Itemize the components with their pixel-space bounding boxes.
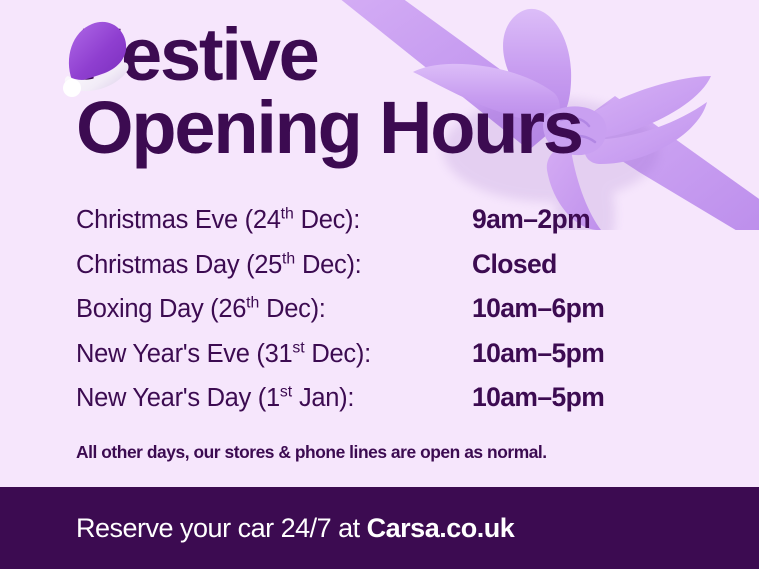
hours-label: Christmas Eve (24th Dec): bbox=[76, 206, 472, 235]
hours-label: New Year's Eve (31st Dec): bbox=[76, 340, 472, 369]
page-title: Festive Opening Hours bbox=[76, 18, 676, 165]
hours-row: Christmas Day (25th Dec): Closed bbox=[76, 249, 686, 294]
hours-row: New Year's Day (1st Jan): 10am–5pm bbox=[76, 382, 686, 427]
footer-lead-text: Reserve your car 24/7 at bbox=[76, 513, 367, 543]
footer-bar: Reserve your car 24/7 at Carsa.co.uk bbox=[0, 487, 759, 569]
opening-hours-list: Christmas Eve (24th Dec): 9am–2pm Christ… bbox=[76, 204, 686, 427]
title-line-1: Festive bbox=[78, 18, 676, 91]
brand-name: Carsa.co.uk bbox=[367, 513, 515, 543]
footnote-text: All other days, our stores & phone lines… bbox=[76, 442, 547, 463]
hours-label: Boxing Day (26th Dec): bbox=[76, 295, 472, 324]
hours-value: 9am–2pm bbox=[472, 204, 590, 235]
hours-value: Closed bbox=[472, 249, 557, 280]
hours-value: 10am–5pm bbox=[472, 338, 604, 369]
festive-opening-hours-poster: Festive Opening Hours Christmas Eve (24t… bbox=[0, 0, 759, 569]
hours-value: 10am–6pm bbox=[472, 293, 604, 324]
hours-row: Boxing Day (26th Dec): 10am–6pm bbox=[76, 293, 686, 338]
title-line-2: Opening Hours bbox=[76, 91, 676, 164]
hours-row: Christmas Eve (24th Dec): 9am–2pm bbox=[76, 204, 686, 249]
hours-row: New Year's Eve (31st Dec): 10am–5pm bbox=[76, 338, 686, 383]
hours-value: 10am–5pm bbox=[472, 382, 604, 413]
hours-label: New Year's Day (1st Jan): bbox=[76, 384, 472, 413]
footer-cta: Reserve your car 24/7 at Carsa.co.uk bbox=[76, 513, 514, 544]
hours-label: Christmas Day (25th Dec): bbox=[76, 251, 472, 280]
santa-hat-icon bbox=[54, 14, 132, 98]
